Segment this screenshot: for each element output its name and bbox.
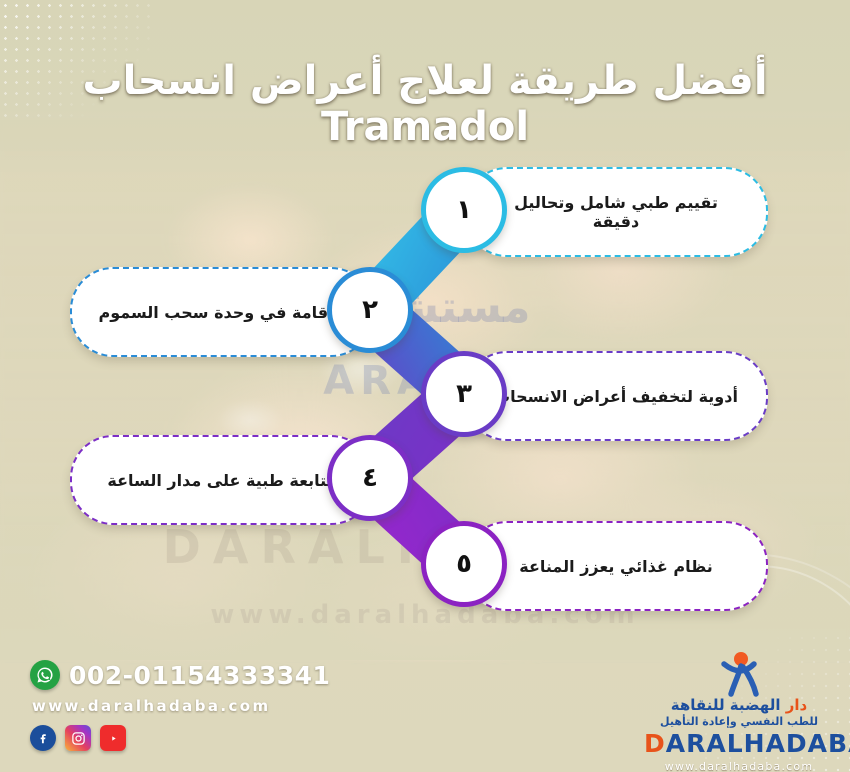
social-links (30, 725, 330, 751)
facebook-icon[interactable] (30, 725, 56, 751)
logo-figure-icon (706, 650, 772, 698)
youtube-icon[interactable] (100, 725, 126, 751)
step-2-number-badge[interactable]: ٢ (327, 267, 413, 353)
step-5-card[interactable]: نظام غذائي يعزز المناعة (464, 521, 768, 611)
step-1[interactable]: تقييم طبي شامل وتحاليل دقيقة ١ (0, 167, 850, 253)
step-1-number-badge[interactable]: ١ (421, 167, 507, 253)
brand-logo[interactable]: دار الهضبة للنقاهة للطب النفسي وإعادة ال… (644, 650, 834, 772)
step-5-label: نظام غذائي يعزز المناعة (466, 557, 766, 576)
step-3-label: أدوية لتخفيف أعراض الانسحاب (466, 387, 766, 406)
step-3[interactable]: أدوية لتخفيف أعراض الانسحاب ٣ (0, 351, 850, 437)
steps-chain: تقييم طبي شامل وتحاليل دقيقة ١ الإقامة ف… (0, 150, 850, 620)
logo-english-rest: ARALHADABA (666, 729, 850, 758)
logo-arabic-word-rest: الهضبة للنقاهة (671, 696, 781, 714)
contact-block: 002-01154333341 www.daralhadaba.com (30, 660, 330, 751)
step-3-number: ٣ (456, 379, 472, 409)
step-3-number-badge[interactable]: ٣ (421, 351, 507, 437)
logo-url: www.daralhadaba.com (644, 760, 834, 772)
logo-english: DARALHADABA (644, 731, 834, 756)
page-title: أفضل طريقة لعلاج أعراض انسحاب Tramadol (0, 58, 850, 150)
logo-english-initial: D (644, 729, 666, 758)
step-5-number-badge[interactable]: ٥ (421, 521, 507, 607)
step-3-card[interactable]: أدوية لتخفيف أعراض الانسحاب (464, 351, 768, 441)
infographic-poster: مستشفى ARABIC DARALHADABA www.daralhadab… (0, 0, 850, 772)
step-1-label: تقييم طبي شامل وتحاليل دقيقة (466, 193, 766, 231)
logo-arabic-word-dar: دار (786, 696, 807, 714)
instagram-icon[interactable] (65, 725, 91, 751)
footer: 002-01154333341 www.daralhadaba.com (0, 642, 850, 772)
step-2-number: ٢ (362, 295, 378, 325)
step-5[interactable]: نظام غذائي يعزز المناعة ٥ (0, 521, 850, 607)
whatsapp-icon[interactable] (30, 660, 60, 690)
step-2[interactable]: الإقامة في وحدة سحب السموم ٢ (0, 267, 850, 353)
step-4-number-badge[interactable]: ٤ (327, 435, 413, 521)
phone-row[interactable]: 002-01154333341 (30, 660, 330, 690)
website-text[interactable]: www.daralhadaba.com (32, 697, 330, 715)
step-4[interactable]: متابعة طبية على مدار الساعة ٤ (0, 435, 850, 521)
logo-arabic-main: دار الهضبة للنقاهة (644, 696, 834, 714)
step-4-number: ٤ (362, 463, 378, 493)
step-5-number: ٥ (456, 549, 472, 579)
step-1-number: ١ (456, 195, 472, 225)
step-1-card[interactable]: تقييم طبي شامل وتحاليل دقيقة (464, 167, 768, 257)
logo-arabic-sub: للطب النفسي وإعادة التأهيل (644, 715, 834, 728)
phone-number[interactable]: 002-01154333341 (69, 661, 330, 690)
